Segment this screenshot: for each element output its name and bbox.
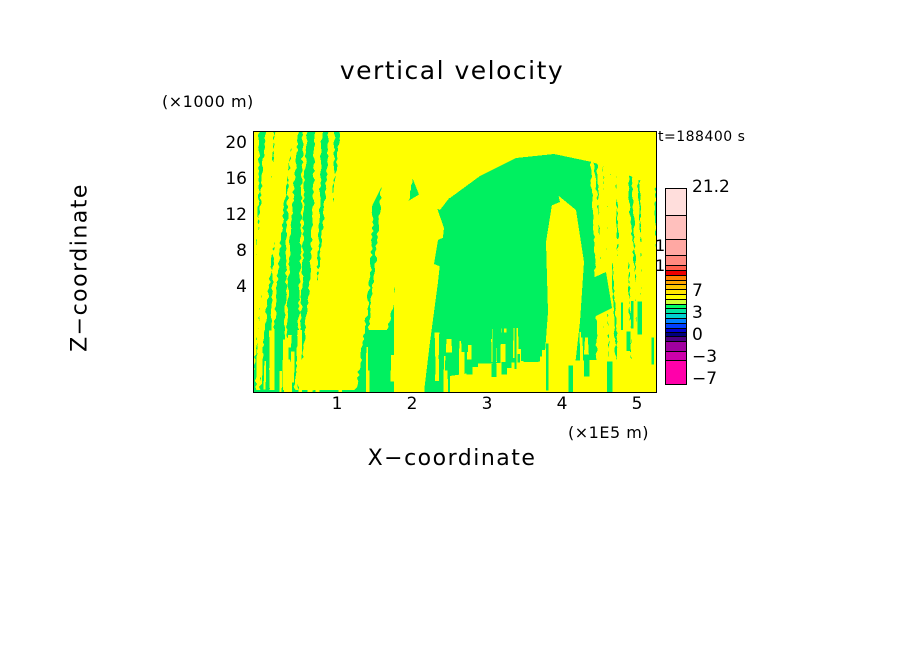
colorbar-segment bbox=[666, 189, 686, 215]
colorbar-gradient bbox=[665, 188, 687, 385]
y-axis-unit: (×1000 m) bbox=[162, 92, 254, 111]
colorbar-label-21: 21.2 bbox=[692, 179, 730, 196]
y-tick: 4 bbox=[207, 279, 247, 296]
colorbar-segment bbox=[666, 255, 686, 265]
colorbar-label-3: 3 bbox=[692, 305, 703, 322]
y-tick: 20 bbox=[207, 135, 247, 152]
vertical-velocity-field bbox=[254, 132, 656, 392]
x-tick: 1 bbox=[322, 396, 352, 413]
colorbar-segment bbox=[666, 360, 686, 384]
x-tick: 2 bbox=[397, 396, 427, 413]
y-axis-title: Z−coordinate bbox=[68, 128, 93, 408]
y-axis-ticks: 4 8 12 16 20 bbox=[199, 131, 247, 391]
y-tick: 16 bbox=[207, 171, 247, 188]
colorbar-segment bbox=[666, 215, 686, 239]
x-tick: 5 bbox=[622, 396, 652, 413]
x-axis-unit: (×1E5 m) bbox=[568, 423, 649, 442]
x-tick: 3 bbox=[472, 396, 502, 413]
x-axis-ticks: 1 2 3 4 5 bbox=[253, 396, 655, 420]
contour-plot-area[interactable] bbox=[253, 131, 657, 393]
x-tick: 4 bbox=[547, 396, 577, 413]
timestamp-annotation: t=188400 s bbox=[658, 129, 745, 145]
colorbar-label-0: 0 bbox=[692, 327, 703, 344]
colorbar-label-neg7: −7 bbox=[692, 371, 717, 388]
y-tick: 8 bbox=[207, 243, 247, 260]
colorbar-segment bbox=[666, 351, 686, 360]
colorbar-segment bbox=[666, 341, 686, 351]
colorbar-segment bbox=[666, 239, 686, 255]
colorbar[interactable]: 21.2 7 3 0 −3 −7 bbox=[665, 188, 687, 385]
colorbar-label-neg3: −3 bbox=[692, 349, 717, 366]
x-axis-title: X−coordinate bbox=[0, 446, 904, 471]
page-title: vertical velocity bbox=[0, 56, 904, 85]
colorbar-label-7: 7 bbox=[692, 283, 703, 300]
y-tick: 12 bbox=[207, 207, 247, 224]
